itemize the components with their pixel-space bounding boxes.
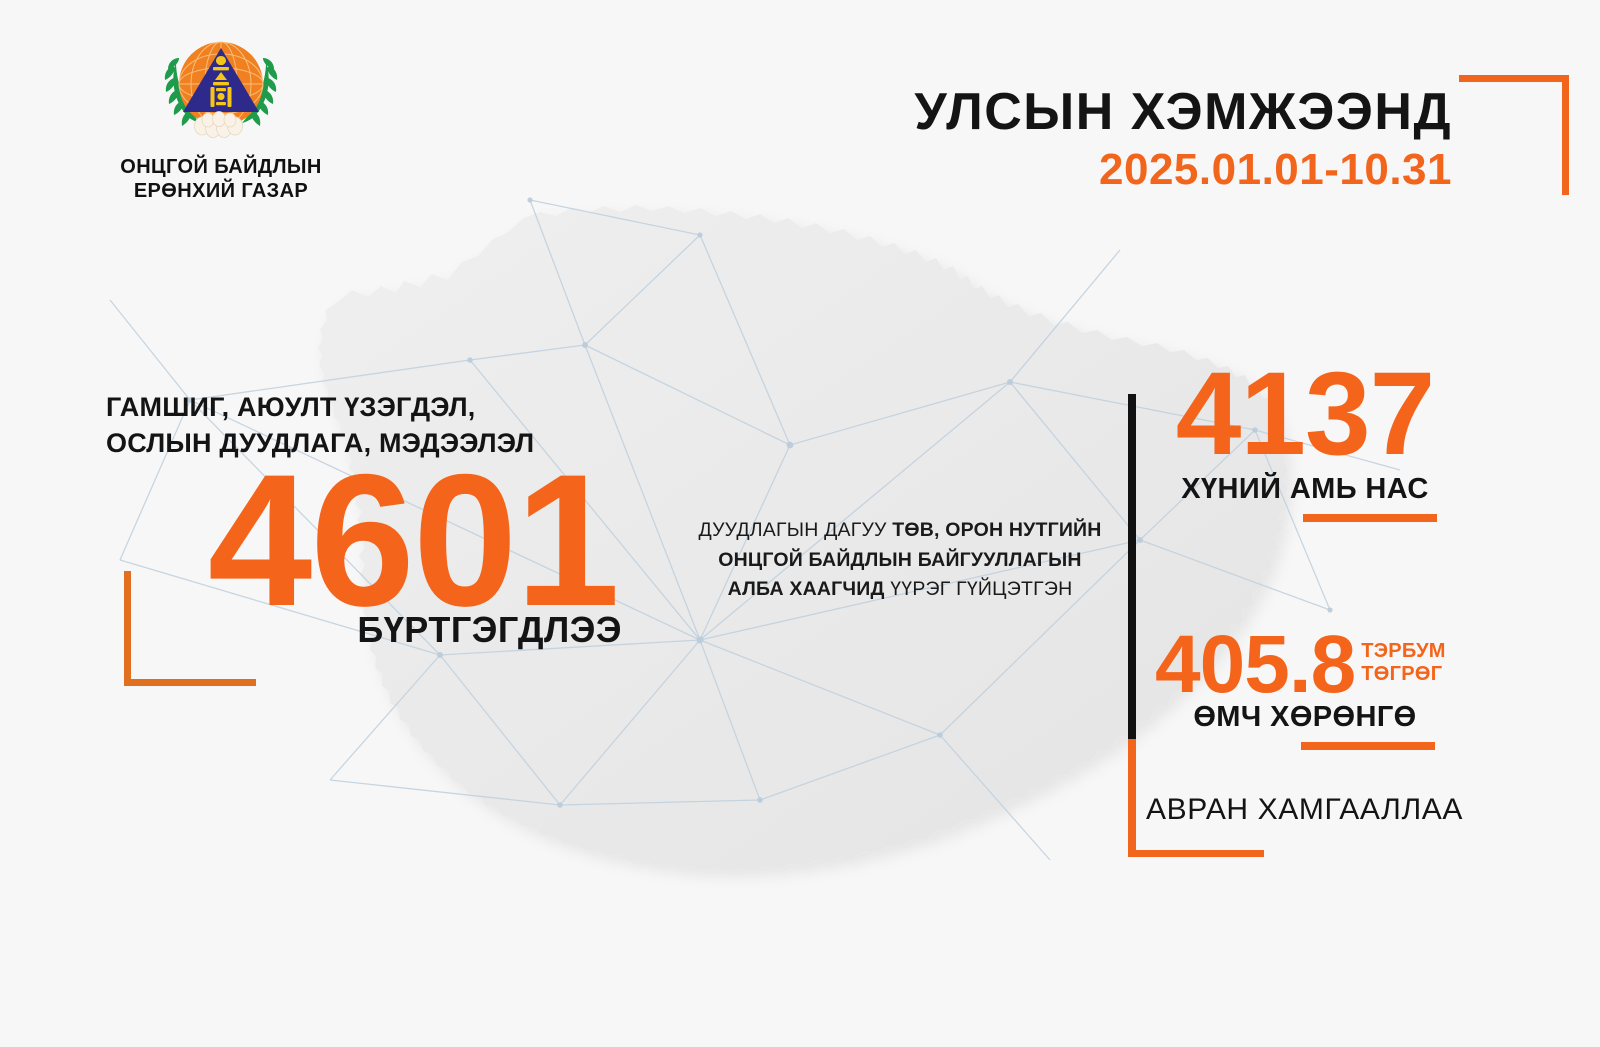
lives-saved-value: 4137 [1155,360,1455,469]
lives-saved-label: ХҮНИЙ АМЬ НАС [1155,473,1455,506]
property-saved-unit: ТЭРБУМ ТӨГРӨГ [1361,640,1446,686]
center-note-lead: ДУУДЛАГЫН ДАГУУ [698,519,892,541]
property-saved-underline [1301,742,1435,750]
lives-saved-stat: 4137 ХҮНИЙ АМЬ НАС [1155,360,1455,522]
header-block: УЛСЫН ХЭМЖЭЭНД 2025.01.01-10.31 [914,86,1452,192]
left-stat-block: ГАМШИГ, АЮУЛТ ҮЗЭГДЭЛ, ОСЛЫН ДУУДЛАГА, М… [106,390,626,651]
left-stat-value: 4601 [106,458,626,623]
left-stat-sublabel: БҮРТГЭГДЛЭЭ [106,609,626,651]
organization-logo-block: ОНЦГОЙ БАЙДЛЫН ЕРӨНХИЙ ГАЗАР [66,22,376,203]
property-saved-label: ӨМЧ ХӨРӨНГӨ [1155,701,1455,734]
center-note-tail: ҮҮРЭГ ГҮЙЦЭТГЭН [885,578,1073,600]
date-range-label: 2025.01.01-10.31 [914,148,1452,192]
corner-bracket-top-right-icon [1459,75,1569,195]
outcome-label: АВРАН ХАМГААЛЛАА [1146,793,1486,827]
page-title: УЛСЫН ХЭМЖЭЭНД [914,86,1452,138]
lives-saved-underline [1303,514,1437,522]
center-note: ДУУДЛАГЫН ДАГУУ ТӨВ, ОРОН НУТГИЙН ОНЦГОЙ… [690,516,1110,605]
infographic-canvas: ОНЦГОЙ БАЙДЛЫН ЕРӨНХИЙ ГАЗАР УЛСЫН ХЭМЖЭ… [0,0,1600,1047]
nema-mongolia-emblem-icon [156,22,286,152]
property-saved-stat: 405.8 ТЭРБУМ ТӨГРӨГ ӨМЧ ХӨРӨНГӨ [1155,626,1495,750]
property-saved-value: 405.8 [1155,626,1355,703]
vertical-divider-black [1128,394,1136,739]
organization-name: ОНЦГОЙ БАЙДЛЫН ЕРӨНХИЙ ГАЗАР [66,156,376,203]
